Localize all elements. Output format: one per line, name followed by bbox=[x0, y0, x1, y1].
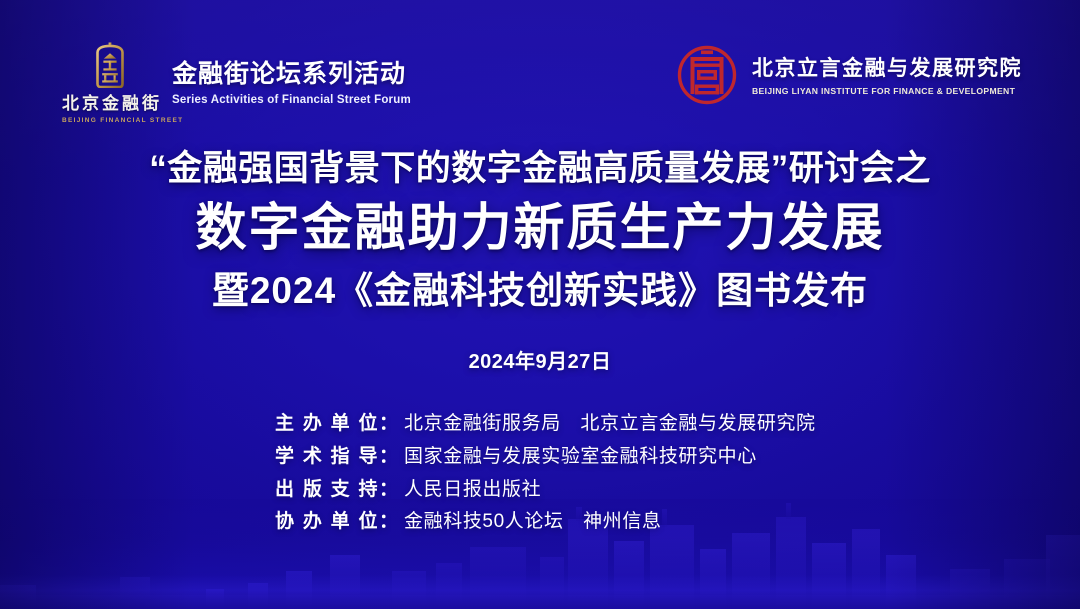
liyan-name-en: BEIJING LIYAN INSTITUTE FOR FINANCE & DE… bbox=[752, 86, 1022, 96]
bfs-brand-cn: 北京金融街 bbox=[62, 89, 158, 114]
financial-street-forum-logo: 北京金融街 BEIJING FINANCIAL STREET 金融街论坛系列活动… bbox=[62, 42, 411, 124]
credit-value: 金融科技50人论坛 神州信息 bbox=[404, 510, 805, 534]
beijing-financial-street-brand: 北京金融街 BEIJING FINANCIAL STREET bbox=[62, 42, 158, 124]
beijing-financial-street-tower-seal-icon bbox=[62, 42, 158, 88]
liyan-institute-logo: 北京立言金融与发展研究院 BEIJING LIYAN INSTITUTE FOR… bbox=[676, 44, 1022, 106]
credit-label: 学术指导 bbox=[275, 445, 379, 469]
event-date: 2024年9月27日 bbox=[0, 345, 1080, 374]
credit-value: 北京金融街服务局 北京立言金融与发展研究院 bbox=[404, 412, 816, 436]
liyan-name-block: 北京立言金融与发展研究院 BEIJING LIYAN INSTITUTE FOR… bbox=[752, 52, 1022, 98]
page-title: 数字金融助力新质生产力发展 bbox=[0, 200, 1080, 256]
credit-value: 国家金融与发展实验室金融科技研究中心 bbox=[404, 445, 805, 469]
organizer-credits: 主办单位 ： 北京金融街服务局 北京立言金融与发展研究院 学术指导 ： 国家金融… bbox=[0, 412, 1080, 543]
credit-label: 协办单位 bbox=[275, 510, 379, 534]
credit-row: 主办单位 ： 北京金融街服务局 北京立言金融与发展研究院 bbox=[275, 412, 805, 436]
credit-colon: ： bbox=[379, 412, 398, 436]
forum-title-block: 金融街论坛系列活动 Series Activities of Financial… bbox=[172, 42, 411, 106]
credit-row: 协办单位 ： 金融科技50人论坛 神州信息 bbox=[275, 510, 805, 534]
book-release-line: 暨2024《金融科技创新实践》图书发布 bbox=[0, 270, 1080, 313]
forum-title-cn: 金融街论坛系列活动 bbox=[172, 54, 411, 90]
credit-label: 出版支持 bbox=[275, 478, 379, 502]
credit-colon: ： bbox=[379, 445, 398, 469]
event-theme-line: “金融强国背景下的数字金融高质量发展”研讨会之 bbox=[0, 148, 1080, 189]
credit-row: 出版支持 ： 人民日报出版社 bbox=[275, 478, 805, 502]
credit-colon: ： bbox=[379, 478, 398, 502]
credit-row: 学术指导 ： 国家金融与发展实验室金融科技研究中心 bbox=[275, 445, 805, 469]
banner-header: 北京金融街 BEIJING FINANCIAL STREET 金融街论坛系列活动… bbox=[0, 42, 1080, 124]
title-block: “金融强国背景下的数字金融高质量发展”研讨会之 数字金融助力新质生产力发展 暨2… bbox=[0, 148, 1080, 374]
liyan-name-cn: 北京立言金融与发展研究院 bbox=[752, 52, 1022, 82]
liyan-institute-round-seal-icon bbox=[676, 44, 738, 106]
credit-colon: ： bbox=[379, 510, 398, 534]
credit-value: 人民日报出版社 bbox=[404, 478, 805, 502]
credit-label: 主办单位 bbox=[275, 412, 379, 436]
forum-title-en: Series Activities of Financial Street Fo… bbox=[172, 94, 411, 106]
bfs-brand-en: BEIJING FINANCIAL STREET bbox=[62, 117, 158, 124]
event-banner: 北京金融街 BEIJING FINANCIAL STREET 金融街论坛系列活动… bbox=[0, 0, 1080, 609]
